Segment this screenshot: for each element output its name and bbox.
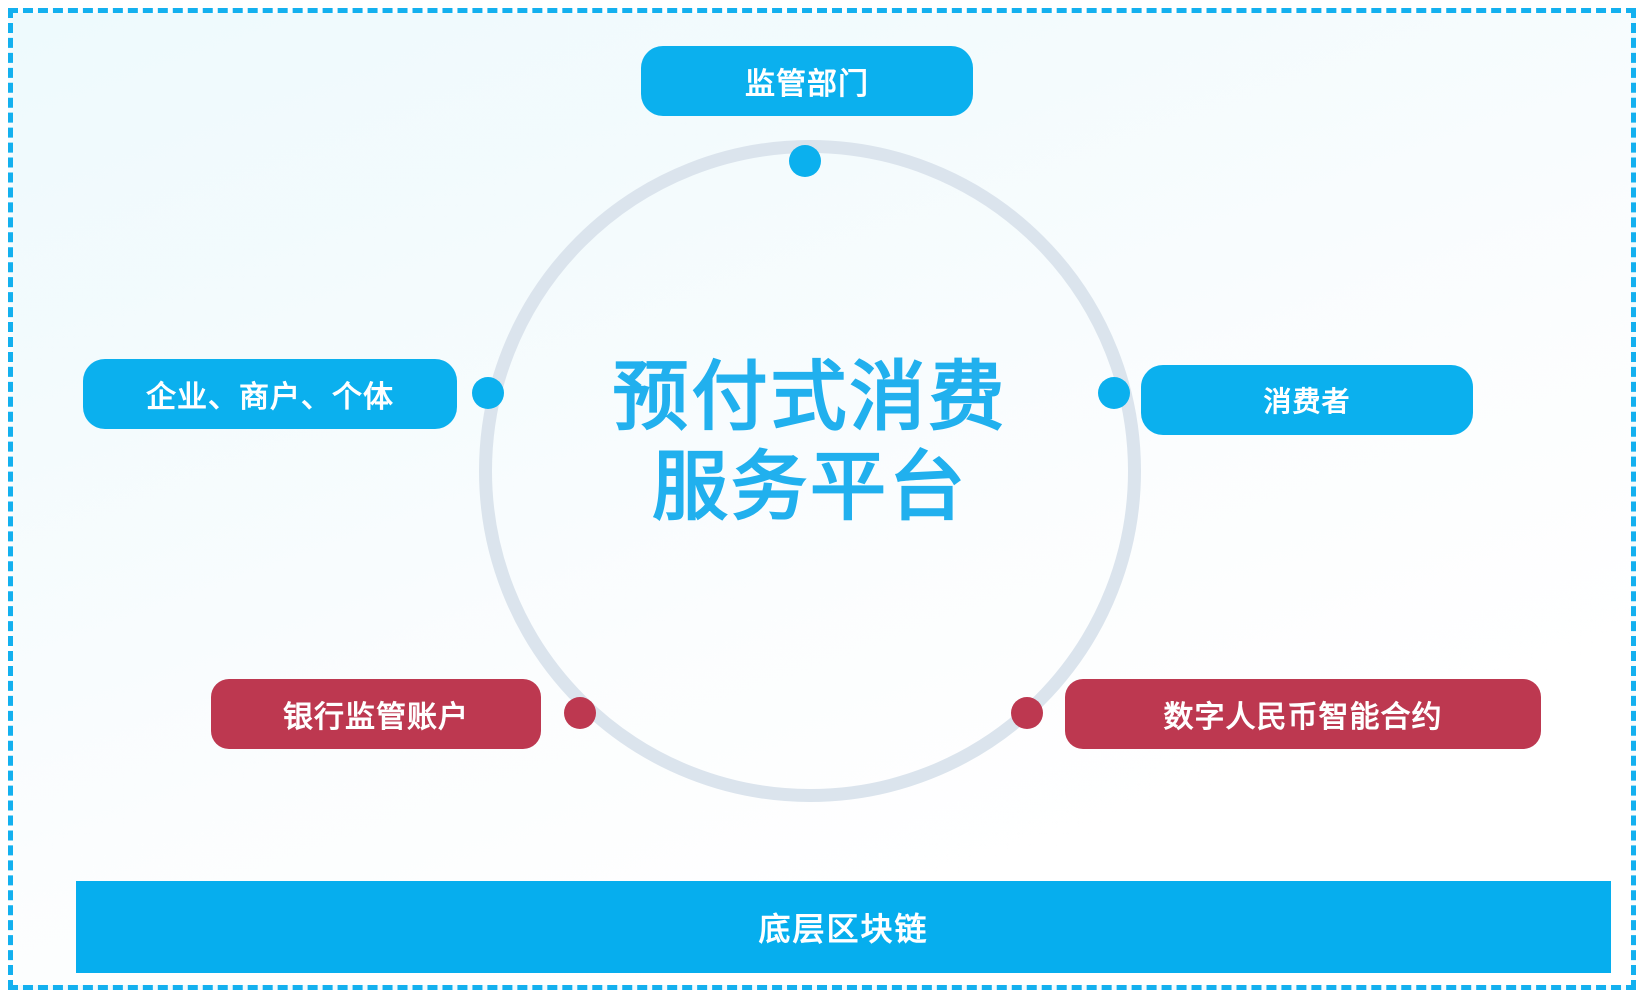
center-title-line-2: 服务平台 — [510, 443, 1110, 533]
center-platform-title: 预付式消费 服务平台 — [510, 353, 1110, 532]
node-label-merchants[interactable]: 企业、商户、个体 — [83, 359, 457, 429]
node-label-smart-contract[interactable]: 数字人民币智能合约 — [1065, 679, 1541, 749]
dashed-frame-border: 预付式消费 服务平台 监管部门 企业、商户、个体 消费者 银行监管账户 数字人民… — [8, 8, 1636, 990]
center-title-line-1: 预付式消费 — [510, 353, 1110, 443]
node-dot-regulator — [789, 145, 821, 177]
node-label-bank-account[interactable]: 银行监管账户 — [211, 679, 541, 749]
node-dot-merchants — [472, 377, 504, 409]
node-dot-smart-contract — [1011, 697, 1043, 729]
diagram-canvas: 预付式消费 服务平台 监管部门 企业、商户、个体 消费者 银行监管账户 数字人民… — [0, 0, 1646, 1000]
node-label-regulator[interactable]: 监管部门 — [641, 46, 973, 116]
foundation-layer-bar[interactable]: 底层区块链 — [76, 881, 1611, 973]
node-label-consumer[interactable]: 消费者 — [1141, 365, 1473, 435]
node-dot-consumer — [1098, 377, 1130, 409]
node-dot-bank-account — [564, 697, 596, 729]
